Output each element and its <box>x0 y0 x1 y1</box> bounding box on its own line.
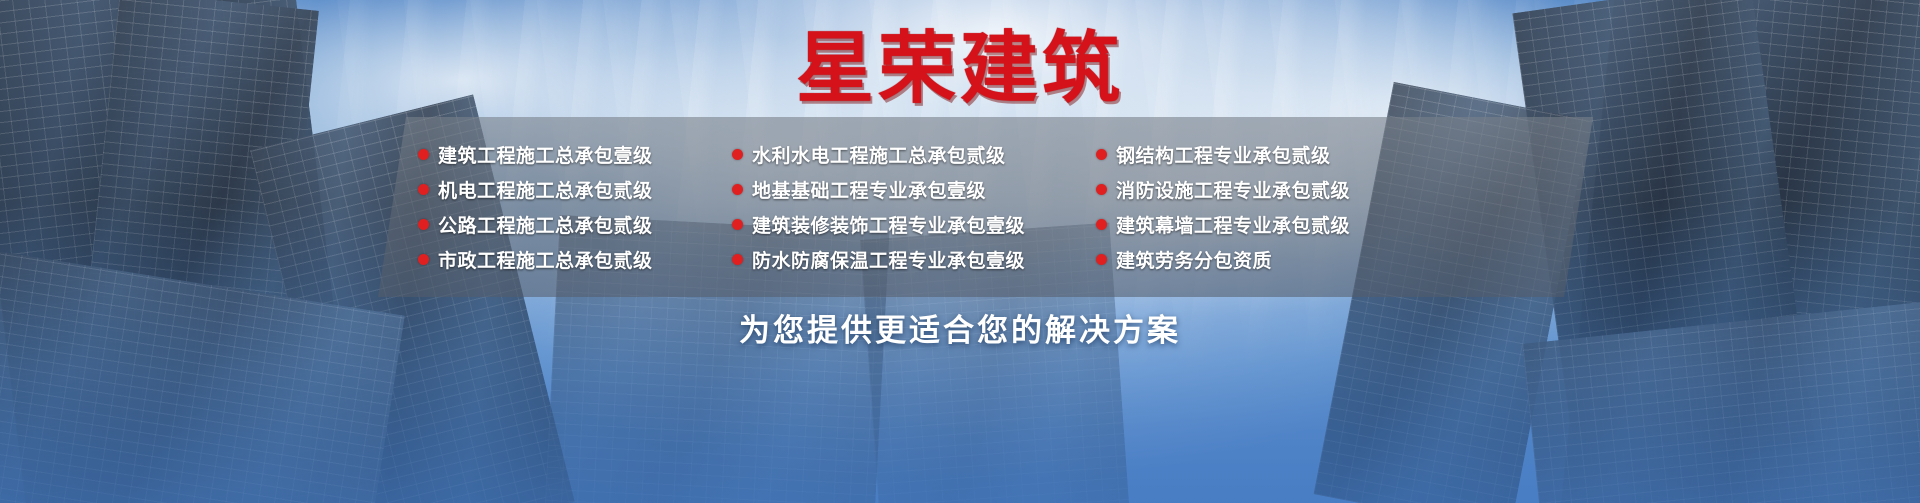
qualification-item: 建筑劳务分包资质 <box>1096 242 1426 277</box>
bullet-dot-icon <box>1096 254 1107 265</box>
qualification-label: 钢结构工程专业承包贰级 <box>1116 141 1331 168</box>
qualification-label: 防水防腐保温工程专业承包壹级 <box>752 246 1025 273</box>
qualification-item: 机电工程施工总承包贰级 <box>418 172 708 207</box>
qualification-item: 市政工程施工总承包贰级 <box>418 242 708 277</box>
banner-tagline: 为您提供更适合您的解决方案 <box>0 311 1920 351</box>
bullet-dot-icon <box>1096 219 1107 230</box>
bullet-dot-icon <box>418 219 429 230</box>
bullet-dot-icon <box>732 184 743 195</box>
bullet-dot-icon <box>1096 149 1107 160</box>
qualification-item: 水利水电工程施工总承包贰级 <box>732 137 1072 172</box>
qualification-item: 防水防腐保温工程专业承包壹级 <box>732 242 1072 277</box>
qualification-item: 建筑幕墙工程专业承包贰级 <box>1096 207 1426 242</box>
qualification-label: 市政工程施工总承包贰级 <box>438 246 653 273</box>
qualification-item: 公路工程施工总承包贰级 <box>418 207 708 242</box>
qualification-item: 消防设施工程专业承包贰级 <box>1096 172 1426 207</box>
bullet-dot-icon <box>418 184 429 195</box>
qualification-label: 公路工程施工总承包贰级 <box>438 211 653 238</box>
qualification-label: 建筑装修装饰工程专业承包壹级 <box>752 211 1025 238</box>
company-name-title: 星荣建筑 <box>0 26 1920 110</box>
qualification-label: 建筑工程施工总承包壹级 <box>438 141 653 168</box>
qualification-label: 地基基础工程专业承包壹级 <box>752 176 986 203</box>
qualification-item: 钢结构工程专业承包贰级 <box>1096 137 1426 172</box>
bullet-dot-icon <box>732 254 743 265</box>
qualifications-panel: 建筑工程施工总承包壹级 水利水电工程施工总承包贰级 钢结构工程专业承包贰级 机电… <box>378 117 1593 297</box>
bullet-dot-icon <box>732 219 743 230</box>
bullet-dot-icon <box>732 149 743 160</box>
qualification-label: 消防设施工程专业承包贰级 <box>1116 176 1350 203</box>
qualification-label: 建筑幕墙工程专业承包贰级 <box>1116 211 1350 238</box>
qualification-label: 机电工程施工总承包贰级 <box>438 176 653 203</box>
qualification-item: 建筑工程施工总承包壹级 <box>418 137 708 172</box>
qualification-item: 地基基础工程专业承包壹级 <box>732 172 1072 207</box>
bullet-dot-icon <box>418 149 429 160</box>
qualifications-grid: 建筑工程施工总承包壹级 水利水电工程施工总承包贰级 钢结构工程专业承包贰级 机电… <box>418 137 1558 277</box>
company-hero-banner: 星荣建筑 建筑工程施工总承包壹级 水利水电工程施工总承包贰级 钢结构工程专业承包… <box>0 0 1920 503</box>
bullet-dot-icon <box>1096 184 1107 195</box>
qualification-label: 水利水电工程施工总承包贰级 <box>752 141 1006 168</box>
qualification-label: 建筑劳务分包资质 <box>1116 246 1272 273</box>
bullet-dot-icon <box>418 254 429 265</box>
qualification-item: 建筑装修装饰工程专业承包壹级 <box>732 207 1072 242</box>
